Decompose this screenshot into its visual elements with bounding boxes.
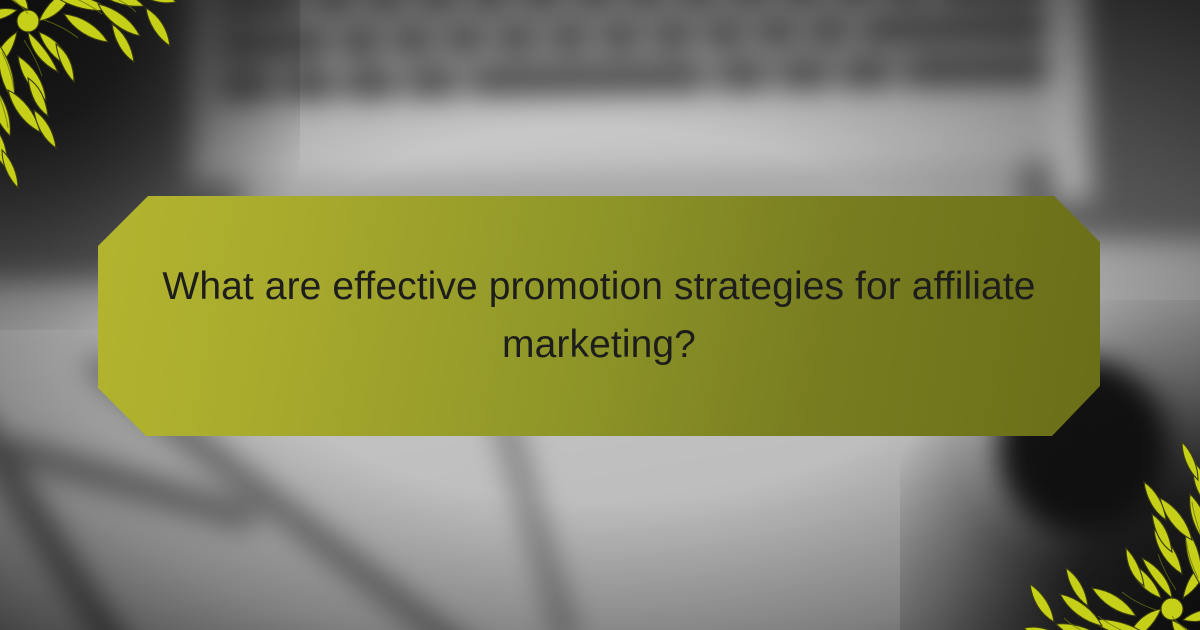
share-card-canvas: What are effective promotion strategies … bbox=[0, 0, 1200, 630]
laptop-keyboard bbox=[216, 0, 1051, 134]
question-banner: What are effective promotion strategies … bbox=[98, 196, 1100, 436]
page-title: What are effective promotion strategies … bbox=[159, 258, 1039, 373]
